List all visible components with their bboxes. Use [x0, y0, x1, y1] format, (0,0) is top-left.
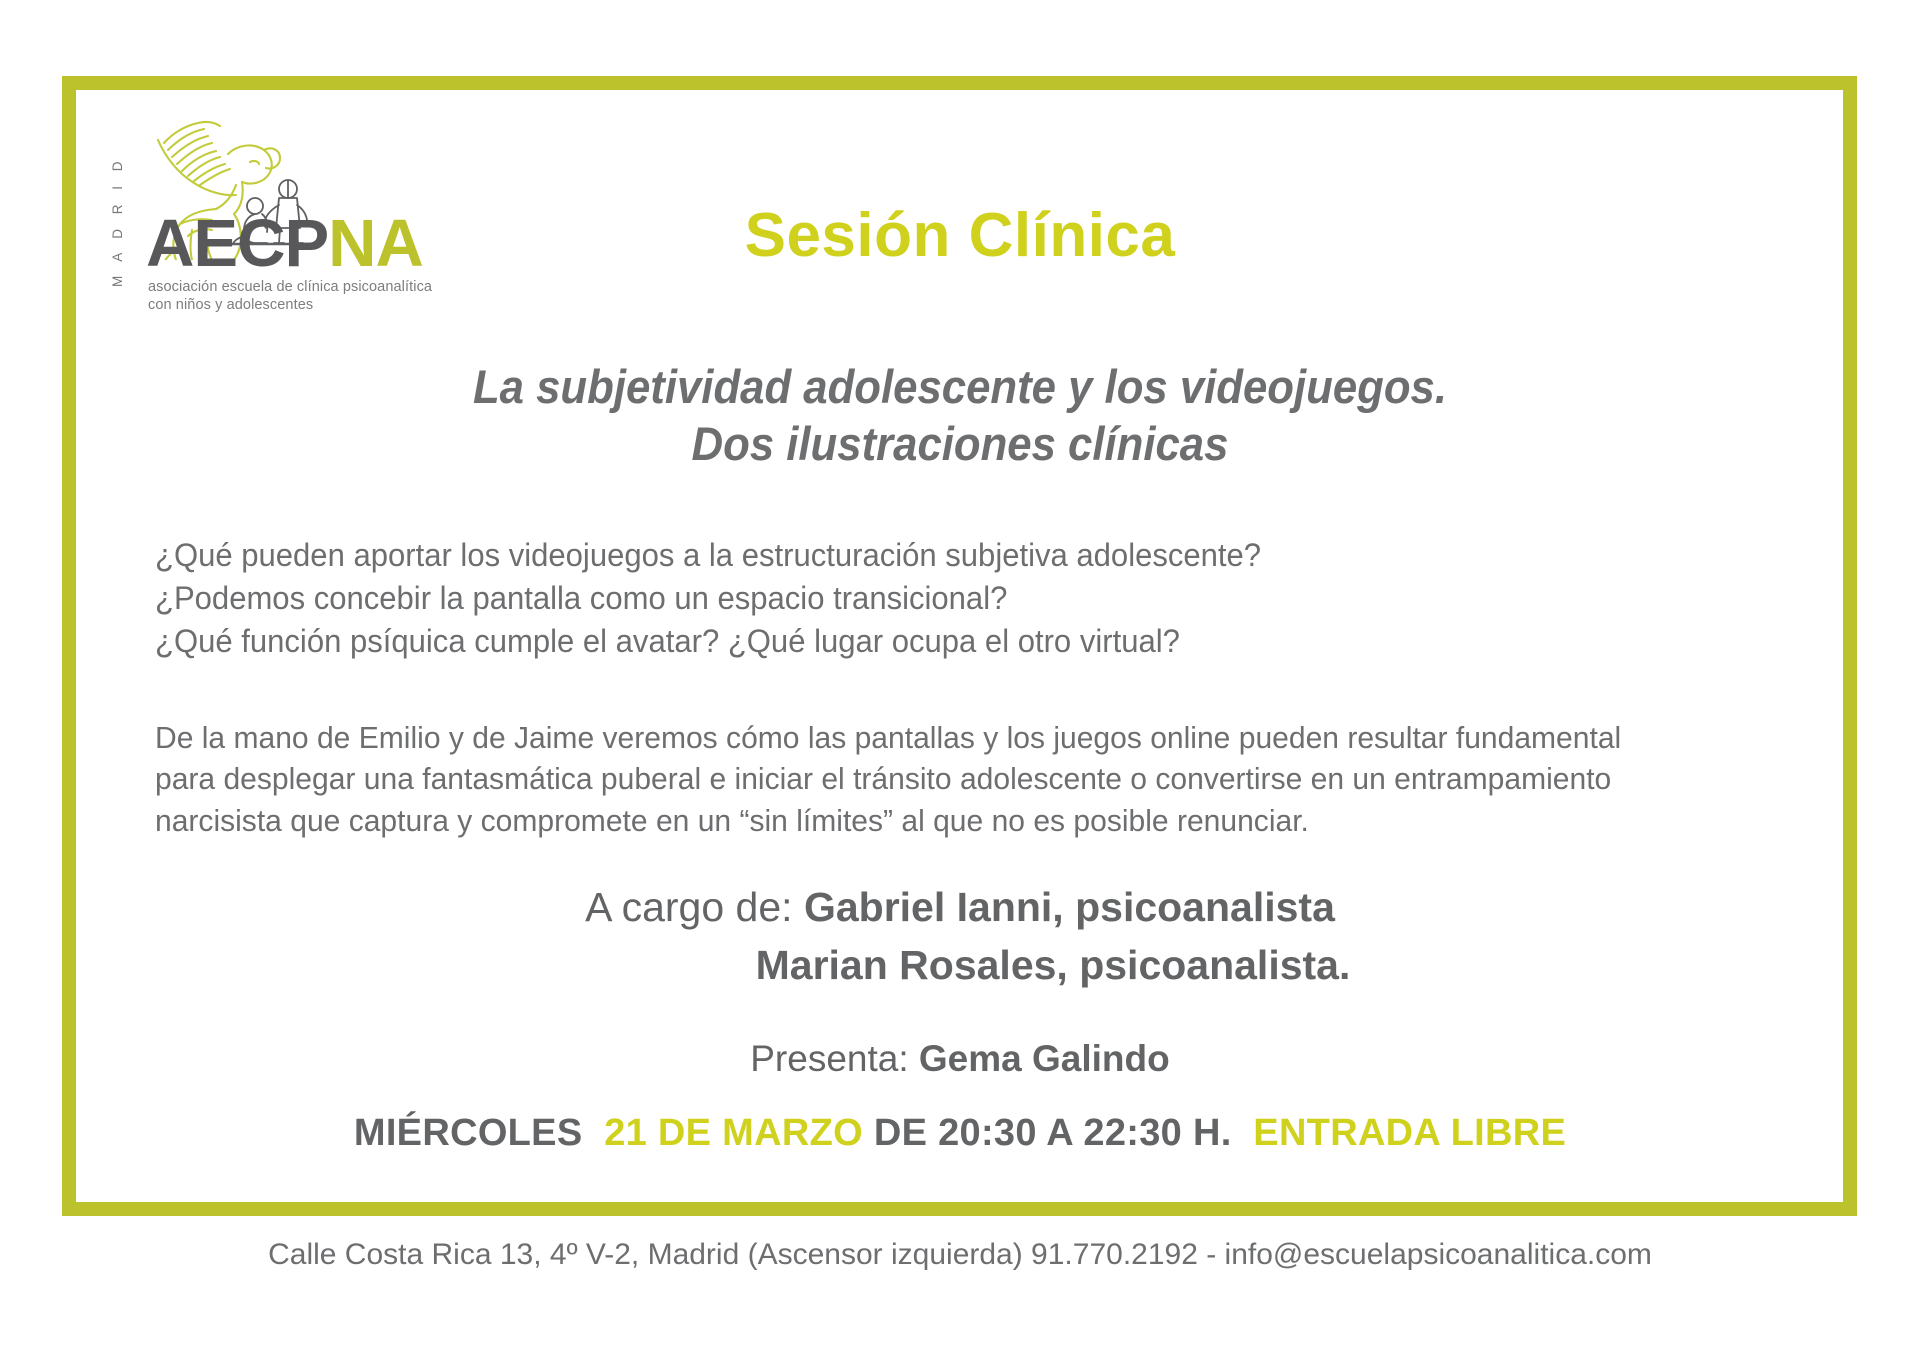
description-line: narcisista que captura y compromete en u… [155, 801, 1711, 842]
question-item: ¿Podemos concebir la pantalla como un es… [155, 577, 1562, 620]
event-weekday: MIÉRCOLES [354, 1112, 583, 1154]
speakers-lead-label: A cargo de: [585, 884, 792, 930]
logo-tagline: asociación escuela de clínica psicoanalí… [148, 278, 432, 314]
subtitle-line-2: Dos ilustraciones clínicas [692, 417, 1229, 470]
question-item: ¿Qué pueden aportar los videojuegos a la… [155, 534, 1562, 577]
logo-tagline-line-2: con niños y adolescentes [148, 297, 313, 313]
questions-block: ¿Qué pueden aportar los videojuegos a la… [155, 534, 1562, 663]
description-line: para desplegar una fantasmática puberal … [155, 759, 1711, 800]
speaker-name-1: Gabriel Ianni, psicoanalista [804, 884, 1335, 930]
page-title: Sesión Clínica [0, 200, 1920, 271]
event-time: DE 20:30 A 22:30 H. [874, 1112, 1232, 1154]
speaker-name-2: Marian Rosales, psicoanalista. [756, 942, 1351, 988]
subtitle-line-1: La subjetividad adolescente y los videoj… [473, 360, 1447, 413]
presenter-lead-label: Presenta: [750, 1038, 908, 1079]
footer-contact: Calle Costa Rica 13, 4º V-2, Madrid (Asc… [0, 1238, 1920, 1272]
speakers-block: A cargo de: Gabriel Ianni, psicoanalista… [0, 878, 1920, 994]
poster-root: M A D R I D [0, 0, 1920, 1355]
event-date-line: MIÉRCOLES 21 DE MARZO DE 20:30 A 22:30 H… [0, 1112, 1920, 1155]
logo-tagline-line-1: asociación escuela de clínica psicoanalí… [148, 279, 432, 295]
description-line: De la mano de Emilio y de Jaime veremos … [155, 718, 1711, 759]
speaker-row-2: Marian Rosales, psicoanalista. [0, 936, 1920, 994]
event-admission: ENTRADA LIBRE [1253, 1112, 1566, 1154]
description-paragraph: De la mano de Emilio y de Jaime veremos … [155, 718, 1711, 842]
speaker-row-1: A cargo de: Gabriel Ianni, psicoanalista [0, 878, 1920, 936]
presenter-block: Presenta: Gema Galindo [0, 1038, 1920, 1080]
event-date: 21 DE MARZO [604, 1112, 863, 1154]
presenter-name: Gema Galindo [919, 1038, 1170, 1079]
page-subtitle: La subjetividad adolescente y los videoj… [207, 358, 1714, 473]
question-item: ¿Qué función psíquica cumple el avatar? … [155, 620, 1562, 663]
